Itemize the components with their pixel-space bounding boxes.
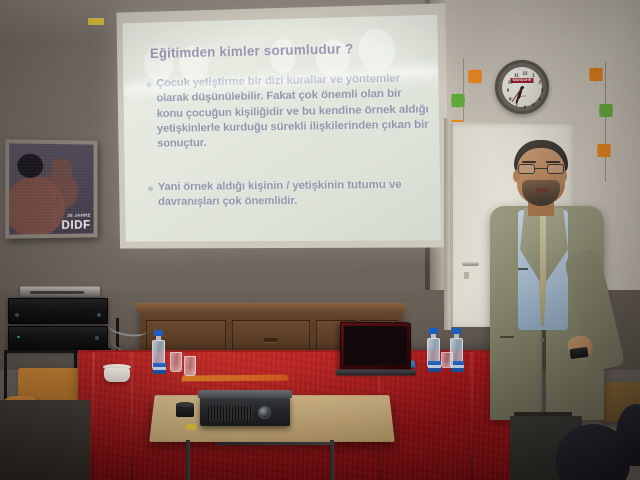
eyeglasses-icon <box>518 164 564 174</box>
paper-flower-icon <box>600 104 613 117</box>
clock-brand-label: WANDUHR <box>510 78 533 83</box>
poster-figure-head-left <box>17 154 43 178</box>
cloth-fold <box>92 352 95 480</box>
door-handle[interactable] <box>462 262 479 266</box>
amplifier-knob[interactable] <box>15 313 19 317</box>
blazer-pocket <box>500 336 514 338</box>
cloth-fold <box>470 352 473 480</box>
blazer-button <box>540 338 544 342</box>
slide-bullet-2-text: Yani örnek aldığı kişinin / yetişkinin t… <box>158 177 433 210</box>
sideboard-drawer-knob[interactable] <box>264 338 278 342</box>
drinking-glass-2[interactable] <box>184 356 196 376</box>
poster-main-text: DIDF <box>61 219 90 231</box>
eyeglass-lens-left <box>518 164 535 174</box>
table-leg <box>186 440 190 480</box>
projector-vent-grille <box>208 406 252 421</box>
poster-mosaic-art: 35 JAHRE DIDF <box>9 143 93 234</box>
laptop-display <box>344 326 407 366</box>
clock-numeral: 12 <box>522 71 527 76</box>
clock-numeral: 11 <box>514 73 519 78</box>
drinking-glass-1[interactable] <box>170 352 182 372</box>
orange-table-runner <box>181 375 289 382</box>
cd-deck[interactable] <box>20 286 100 297</box>
eyebrow-left <box>522 161 536 163</box>
clock-numeral: 10 <box>508 79 513 84</box>
paper-flower-icon <box>469 70 482 83</box>
amplifier-knob[interactable] <box>95 336 99 340</box>
clock-numeral: 3 <box>541 88 544 93</box>
cable-reel-top <box>176 402 194 407</box>
door-lock[interactable] <box>464 272 469 279</box>
amplifier-knob[interactable] <box>97 313 101 317</box>
av-amplifier-lower[interactable] <box>8 326 108 350</box>
clock-numeral: 9 <box>507 88 510 93</box>
bullet-dot-icon <box>147 83 152 88</box>
clock-numeral: 1 <box>532 73 535 78</box>
slide-bullet-1: Çocuk yetiştirme bir dizi kurallar ve yö… <box>146 71 432 152</box>
presentation-room-photo: Eğitimden kimler sorumludur ? Çocuk yeti… <box>0 0 640 480</box>
bullet-dot-icon <box>148 186 153 191</box>
projector-top-cover <box>198 390 292 398</box>
poster-caption: 35 JAHRE DIDF <box>61 214 90 231</box>
white-lidded-bowl[interactable] <box>104 368 130 382</box>
laptop-keyboard-base[interactable] <box>336 369 416 375</box>
drinking-glass-3[interactable] <box>441 352 453 368</box>
cloth-fold <box>130 352 133 480</box>
slide-bullet-1-text: Çocuk yetiştirme bir dizi kurallar ve yö… <box>156 71 432 152</box>
yellow-connector <box>186 424 196 430</box>
clock-numeral: 4 <box>538 96 541 101</box>
paper-flower-icon <box>590 68 603 81</box>
didf-poster: 35 JAHRE DIDF <box>5 139 97 238</box>
bottle-label-stripe <box>153 367 166 370</box>
blazer-breast-pocket <box>518 268 528 270</box>
poster-figure-head-right <box>51 158 72 180</box>
eyeglass-bridge <box>535 168 547 169</box>
wall-clock: WANDUHR quartz 121234567891011 <box>495 60 549 114</box>
clock-center-pin <box>521 86 524 89</box>
clock-numeral: 6 <box>524 105 527 110</box>
bottle-label-stripe <box>428 365 441 368</box>
power-led-icon <box>17 336 20 338</box>
clock-numeral: 2 <box>538 79 541 84</box>
bottle-body <box>152 340 165 370</box>
bottle-body <box>427 338 440 368</box>
video-projector[interactable] <box>200 396 290 426</box>
presentation-slide: Eğitimden kimler sorumludur ? Çocuk yeti… <box>122 15 440 242</box>
paper-flower-icon <box>452 94 465 107</box>
presenter-laptop[interactable] <box>340 322 411 373</box>
table-cross-brace <box>216 442 332 445</box>
table-leg <box>330 440 334 480</box>
poster-sub-text: 35 JAHRE <box>61 214 90 219</box>
projector-yellow-tag <box>88 18 104 25</box>
clock-numeral: 5 <box>532 102 535 107</box>
floor-left <box>0 400 90 480</box>
projection-screen: Eğitimden kimler sorumludur ? Çocuk yeti… <box>116 3 449 248</box>
eyebrow-right <box>546 161 560 163</box>
sideboard-top <box>136 303 406 311</box>
slide-bullet-2: Yani örnek aldığı kişinin / yetişkinin t… <box>148 177 433 210</box>
mouth <box>536 188 549 193</box>
clock-face: WANDUHR quartz 121234567891011 <box>502 67 542 107</box>
eyeglass-lens-right <box>547 164 564 174</box>
av-amplifier-upper[interactable] <box>8 298 108 324</box>
projector-lens-icon <box>258 406 271 419</box>
deck-tray-slot <box>30 291 84 294</box>
